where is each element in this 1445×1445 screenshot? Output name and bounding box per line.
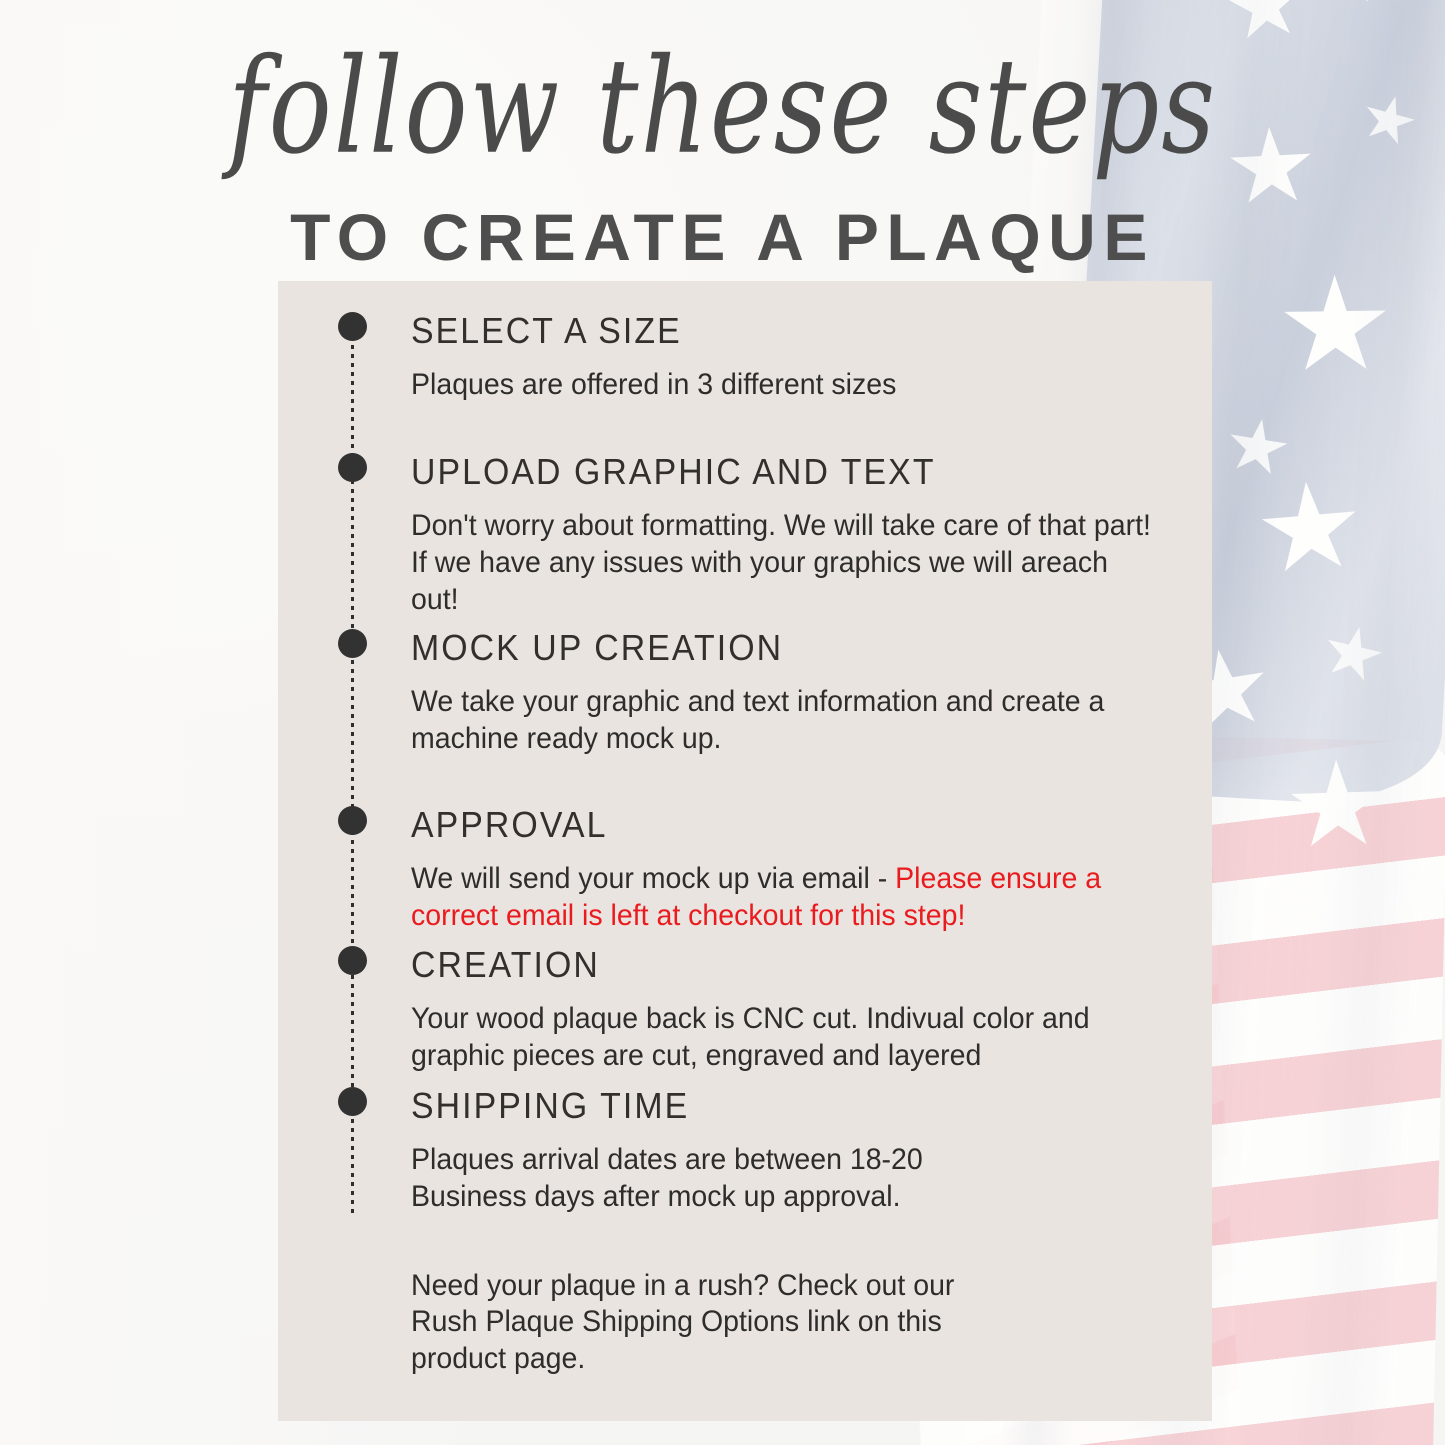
step-content: UPLOAD GRAPHIC AND TEXT Don't worry abou…	[411, 453, 1201, 618]
step-description: Don't worry about formatting. We will ta…	[411, 508, 1162, 619]
step-bullet-dot	[338, 629, 367, 658]
steps-panel: SELECT A SIZE Plaques are offered in 3 d…	[278, 281, 1212, 1421]
step-title: SHIPPING TIME	[411, 1087, 1154, 1125]
script-title: follow these steps	[22, 42, 1424, 174]
step-title: MOCK UP CREATION	[411, 629, 1154, 667]
step-title: UPLOAD GRAPHIC AND TEXT	[411, 453, 1154, 491]
step-content: SELECT A SIZE Plaques are offered in 3 d…	[411, 312, 1201, 404]
header: follow these steps TO CREATE A PLAQUE	[0, 0, 1445, 270]
step-description: Your wood plaque back is CNC cut. Indivu…	[411, 1001, 1162, 1075]
step-title: SELECT A SIZE	[411, 312, 1154, 350]
step-description: We take your graphic and text informatio…	[411, 684, 1162, 758]
step-content: CREATION Your wood plaque back is CNC cu…	[411, 946, 1201, 1075]
page-title: TO CREATE A PLAQUE	[0, 204, 1445, 270]
step-description-wrapper: We will send your mock up via email - Pl…	[411, 861, 1162, 935]
step-bullet-dot	[338, 1087, 367, 1116]
step-content: SHIPPING TIME Plaques arrival dates are …	[411, 1087, 1201, 1378]
step-bullet-dot	[338, 453, 367, 482]
step-bullet-dot	[338, 806, 367, 835]
steps-timeline: SELECT A SIZE Plaques are offered in 3 d…	[278, 281, 1212, 1421]
step-description: Plaques are offered in 3 different sizes	[411, 367, 1162, 404]
step-description: Plaques arrival dates are between 18-20 …	[411, 1142, 1000, 1216]
step-content: APPROVAL We will send your mock up via e…	[411, 806, 1201, 935]
step-bullet-dot	[338, 312, 367, 341]
step-title: CREATION	[411, 946, 1154, 984]
step-title: APPROVAL	[411, 806, 1154, 844]
step-description: We will send your mock up via email -	[411, 862, 895, 895]
step-description-extra: Need your plaque in a rush? Check out ou…	[411, 1268, 1029, 1379]
step-content: MOCK UP CREATION We take your graphic an…	[411, 629, 1201, 758]
step-bullet-dot	[338, 946, 367, 975]
